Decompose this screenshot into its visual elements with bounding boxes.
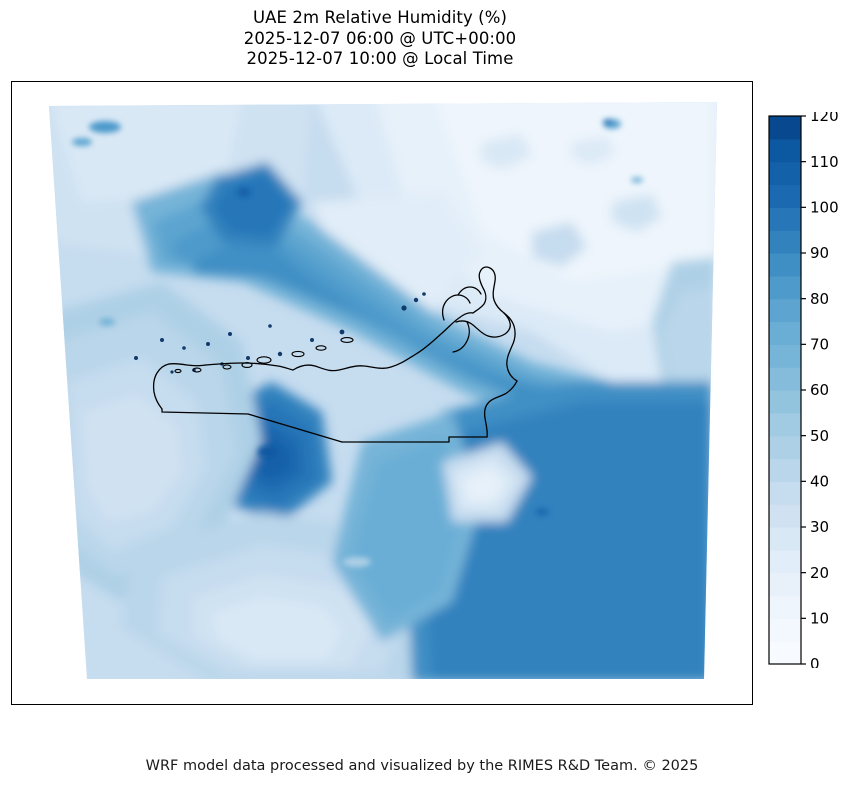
colorbar-band (769, 573, 801, 596)
colorbar-band (769, 596, 801, 619)
colorbar-tick-label: 30 (810, 518, 829, 536)
colorbar-band (769, 641, 801, 664)
colorbar-band (769, 618, 801, 641)
figure-root: UAE 2m Relative Humidity (%) 2025-12-07 … (0, 0, 844, 788)
colorbar-tick-label: 120 (810, 112, 839, 125)
colorbar-band (769, 550, 801, 573)
rimes-logo-mark: Regional Multi-Hazard Early Warning Syst… (692, 699, 753, 705)
colorbar-band (769, 230, 801, 253)
colorbar-tick-label: 90 (810, 244, 829, 262)
colorbar-tick-label: 50 (810, 427, 829, 445)
colorbar-tick-label: 60 (810, 381, 829, 399)
colorbar-band (769, 413, 801, 436)
colorbar-band (769, 504, 801, 527)
colorbar-tick-label: 40 (810, 473, 829, 491)
colorbar-band (769, 253, 801, 276)
colorbar-band (769, 162, 801, 185)
colorbar-ticks: 0102030405060708090100110120 (801, 112, 839, 668)
colorbar-bands (769, 116, 801, 665)
colorbar-band (769, 527, 801, 550)
map-axes: Regional Multi-Hazard Early Warning Syst… (11, 81, 753, 705)
colorbar-band (769, 276, 801, 299)
colorbar-band (769, 481, 801, 504)
colorbar-band (769, 207, 801, 230)
humidity-map (12, 82, 752, 704)
colorbar-band (769, 367, 801, 390)
colorbar-band (769, 344, 801, 367)
footer-credit: WRF model data processed and visualized … (0, 758, 844, 774)
colorbar-band (769, 459, 801, 482)
rimes-arc-text: Regional Multi-Hazard Early Warning Syst… (692, 699, 750, 705)
colorbar-tick-label: 110 (810, 153, 839, 171)
colorbar-band (769, 139, 801, 162)
colorbar-svg: 0102030405060708090100110120 (765, 112, 844, 668)
colorbar-band (769, 116, 801, 139)
title-line-variable: UAE 2m Relative Humidity (%) (0, 8, 760, 29)
colorbar: 0102030405060708090100110120 (765, 112, 844, 668)
colorbar-band (769, 299, 801, 322)
title-line-local: 2025-12-07 10:00 @ Local Time (0, 49, 760, 70)
colorbar-tick-label: 0 (810, 655, 820, 668)
page-title: UAE 2m Relative Humidity (%) 2025-12-07 … (0, 8, 760, 70)
title-line-utc: 2025-12-07 06:00 @ UTC+00:00 (0, 29, 760, 50)
colorbar-band (769, 322, 801, 345)
colorbar-tick-label: 10 (810, 610, 829, 628)
colorbar-tick-label: 80 (810, 290, 829, 308)
filled-contours (12, 82, 752, 704)
colorbar-tick-label: 100 (810, 199, 839, 217)
colorbar-tick-label: 20 (810, 564, 829, 582)
colorbar-band (769, 390, 801, 413)
colorbar-band (769, 436, 801, 459)
rimes-logo: Regional Multi-Hazard Early Warning Syst… (692, 699, 753, 705)
colorbar-tick-label: 70 (810, 336, 829, 354)
colorbar-band (769, 185, 801, 208)
